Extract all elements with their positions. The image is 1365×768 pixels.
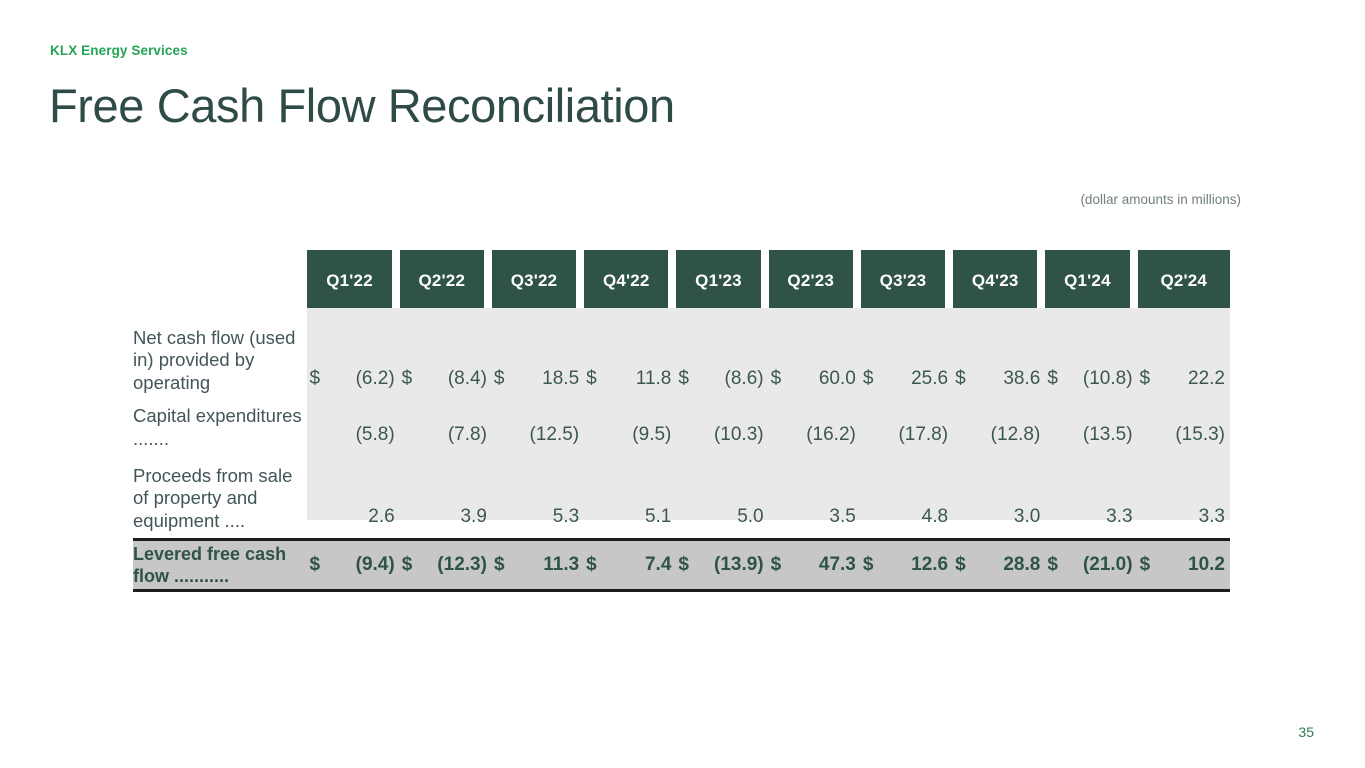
brand-eyebrow: KLX Energy Services (50, 43, 188, 58)
currency-symbol: $ (492, 541, 508, 589)
total-grid: Levered free cash flow ...........$(9.4)… (133, 541, 1230, 589)
table-row: Capital expenditures .......(5.8)(7.8)(1… (133, 394, 1230, 450)
row-label: Proceeds from sale of property and equip… (133, 450, 307, 532)
column-header-box: Q3'23 (861, 250, 945, 308)
units-note: (dollar amounts in millions) (1080, 192, 1241, 207)
column-header-box: Q2'22 (400, 250, 484, 308)
total-data-cell: (12.3) (416, 541, 492, 589)
slide-page-number: 35 (1298, 724, 1314, 740)
table-row-total: Levered free cash flow ...........$(9.4)… (133, 541, 1230, 589)
currency-symbol (307, 450, 323, 532)
currency-symbol: $ (953, 541, 969, 589)
data-cell: 5.0 (692, 450, 768, 532)
currency-symbol: $ (400, 541, 416, 589)
currency-symbol: $ (676, 308, 692, 394)
total-data-cell: 11.3 (508, 541, 584, 589)
total-data-cell: 10.2 (1154, 541, 1230, 589)
data-cell: (10.8) (1061, 308, 1137, 394)
currency-symbol (400, 394, 416, 450)
currency-symbol (676, 394, 692, 450)
total-data-cell: 47.3 (785, 541, 861, 589)
data-cell: 5.3 (508, 450, 584, 532)
header-label-spacer (133, 250, 307, 308)
column-header-q323: Q3'23 (861, 250, 953, 308)
data-cell: 60.0 (785, 308, 861, 394)
page-title: Free Cash Flow Reconciliation (49, 78, 675, 133)
column-header-q423: Q4'23 (953, 250, 1045, 308)
row-label: Capital expenditures ....... (133, 394, 307, 450)
column-header-box: Q1'24 (1045, 250, 1129, 308)
total-row-band: Levered free cash flow ...........$(9.4)… (133, 538, 1230, 592)
data-cell: (8.6) (692, 308, 768, 394)
data-cell: (10.3) (692, 394, 768, 450)
column-header-box: Q1'23 (676, 250, 760, 308)
currency-symbol (861, 394, 877, 450)
data-cell: (8.4) (416, 308, 492, 394)
currency-symbol: $ (584, 541, 600, 589)
currency-symbol: $ (676, 541, 692, 589)
column-header-q122: Q1'22 (307, 250, 399, 308)
fcf-reconciliation-table: Q1'22Q2'22Q3'22Q4'22Q1'23Q2'23Q3'23Q4'23… (133, 250, 1230, 532)
currency-symbol: $ (307, 541, 323, 589)
data-cell: 18.5 (508, 308, 584, 394)
currency-symbol: $ (492, 308, 508, 394)
total-data-cell: (9.4) (324, 541, 400, 589)
column-header-q223: Q2'23 (769, 250, 861, 308)
column-header-box: Q3'22 (492, 250, 576, 308)
column-header-box: Q2'24 (1138, 250, 1230, 308)
currency-symbol: $ (1045, 541, 1061, 589)
data-cell: (12.5) (508, 394, 584, 450)
data-cell: 2.6 (323, 450, 399, 532)
column-header-q422: Q4'22 (584, 250, 676, 308)
currency-symbol: $ (769, 541, 785, 589)
total-data-cell: 12.6 (877, 541, 953, 589)
currency-symbol (676, 450, 692, 532)
data-cell: 5.1 (600, 450, 676, 532)
total-data-cell: (21.0) (1061, 541, 1137, 589)
currency-symbol: $ (861, 541, 877, 589)
table-header-row: Q1'22Q2'22Q3'22Q4'22Q1'23Q2'23Q3'23Q4'23… (133, 250, 1230, 308)
data-cell: 3.3 (1061, 450, 1137, 532)
currency-symbol (769, 450, 785, 532)
data-cell: 3.9 (416, 450, 492, 532)
currency-symbol: $ (400, 308, 416, 394)
column-header-q222: Q2'22 (400, 250, 492, 308)
table-row: Proceeds from sale of property and equip… (133, 450, 1230, 532)
data-cell: (16.2) (785, 394, 861, 450)
data-cell: (17.8) (877, 394, 953, 450)
currency-symbol: $ (307, 308, 323, 394)
currency-symbol (861, 450, 877, 532)
currency-symbol (400, 450, 416, 532)
currency-symbol: $ (769, 308, 785, 394)
currency-symbol (1138, 450, 1154, 532)
column-header-q124: Q1'24 (1045, 250, 1137, 308)
data-cell: 3.3 (1154, 450, 1230, 532)
column-header-box: Q2'23 (769, 250, 853, 308)
data-cell: 3.0 (969, 450, 1045, 532)
data-cell: 38.6 (969, 308, 1045, 394)
currency-symbol: $ (584, 308, 600, 394)
data-cell: (9.5) (600, 394, 676, 450)
column-header-q123: Q1'23 (676, 250, 768, 308)
data-cell: (6.2) (323, 308, 399, 394)
data-cell: (15.3) (1154, 394, 1230, 450)
row-label: Net cash flow (used in) provided by oper… (133, 308, 307, 394)
currency-symbol (953, 450, 969, 532)
total-row-label: Levered free cash flow ........... (133, 541, 307, 589)
currency-symbol: $ (861, 308, 877, 394)
data-cell: (5.8) (323, 394, 399, 450)
column-header-q224: Q2'24 (1138, 250, 1230, 308)
data-cell: 25.6 (877, 308, 953, 394)
column-header-box: Q1'22 (307, 250, 391, 308)
data-cell: (7.8) (416, 394, 492, 450)
column-header-box: Q4'23 (953, 250, 1037, 308)
data-cell: 11.8 (600, 308, 676, 394)
currency-symbol (769, 394, 785, 450)
data-cell: (13.5) (1061, 394, 1137, 450)
currency-symbol (953, 394, 969, 450)
currency-symbol (492, 394, 508, 450)
column-header-box: Q4'22 (584, 250, 668, 308)
currency-symbol (1045, 450, 1061, 532)
currency-symbol (1138, 394, 1154, 450)
column-header-q322: Q3'22 (492, 250, 584, 308)
data-cell: 22.2 (1154, 308, 1230, 394)
currency-symbol: $ (1138, 308, 1154, 394)
data-cell: (12.8) (969, 394, 1045, 450)
currency-symbol: $ (1045, 308, 1061, 394)
currency-symbol: $ (953, 308, 969, 394)
fcf-grid: Q1'22Q2'22Q3'22Q4'22Q1'23Q2'23Q3'23Q4'23… (133, 250, 1230, 532)
currency-symbol (492, 450, 508, 532)
total-data-cell: 28.8 (969, 541, 1045, 589)
currency-symbol: $ (1138, 541, 1154, 589)
currency-symbol (307, 394, 323, 450)
data-cell: 3.5 (785, 450, 861, 532)
data-cell: 4.8 (877, 450, 953, 532)
total-data-cell: (13.9) (692, 541, 768, 589)
currency-symbol (584, 394, 600, 450)
currency-symbol (1045, 394, 1061, 450)
table-row: Net cash flow (used in) provided by oper… (133, 308, 1230, 394)
total-data-cell: 7.4 (600, 541, 676, 589)
currency-symbol (584, 450, 600, 532)
